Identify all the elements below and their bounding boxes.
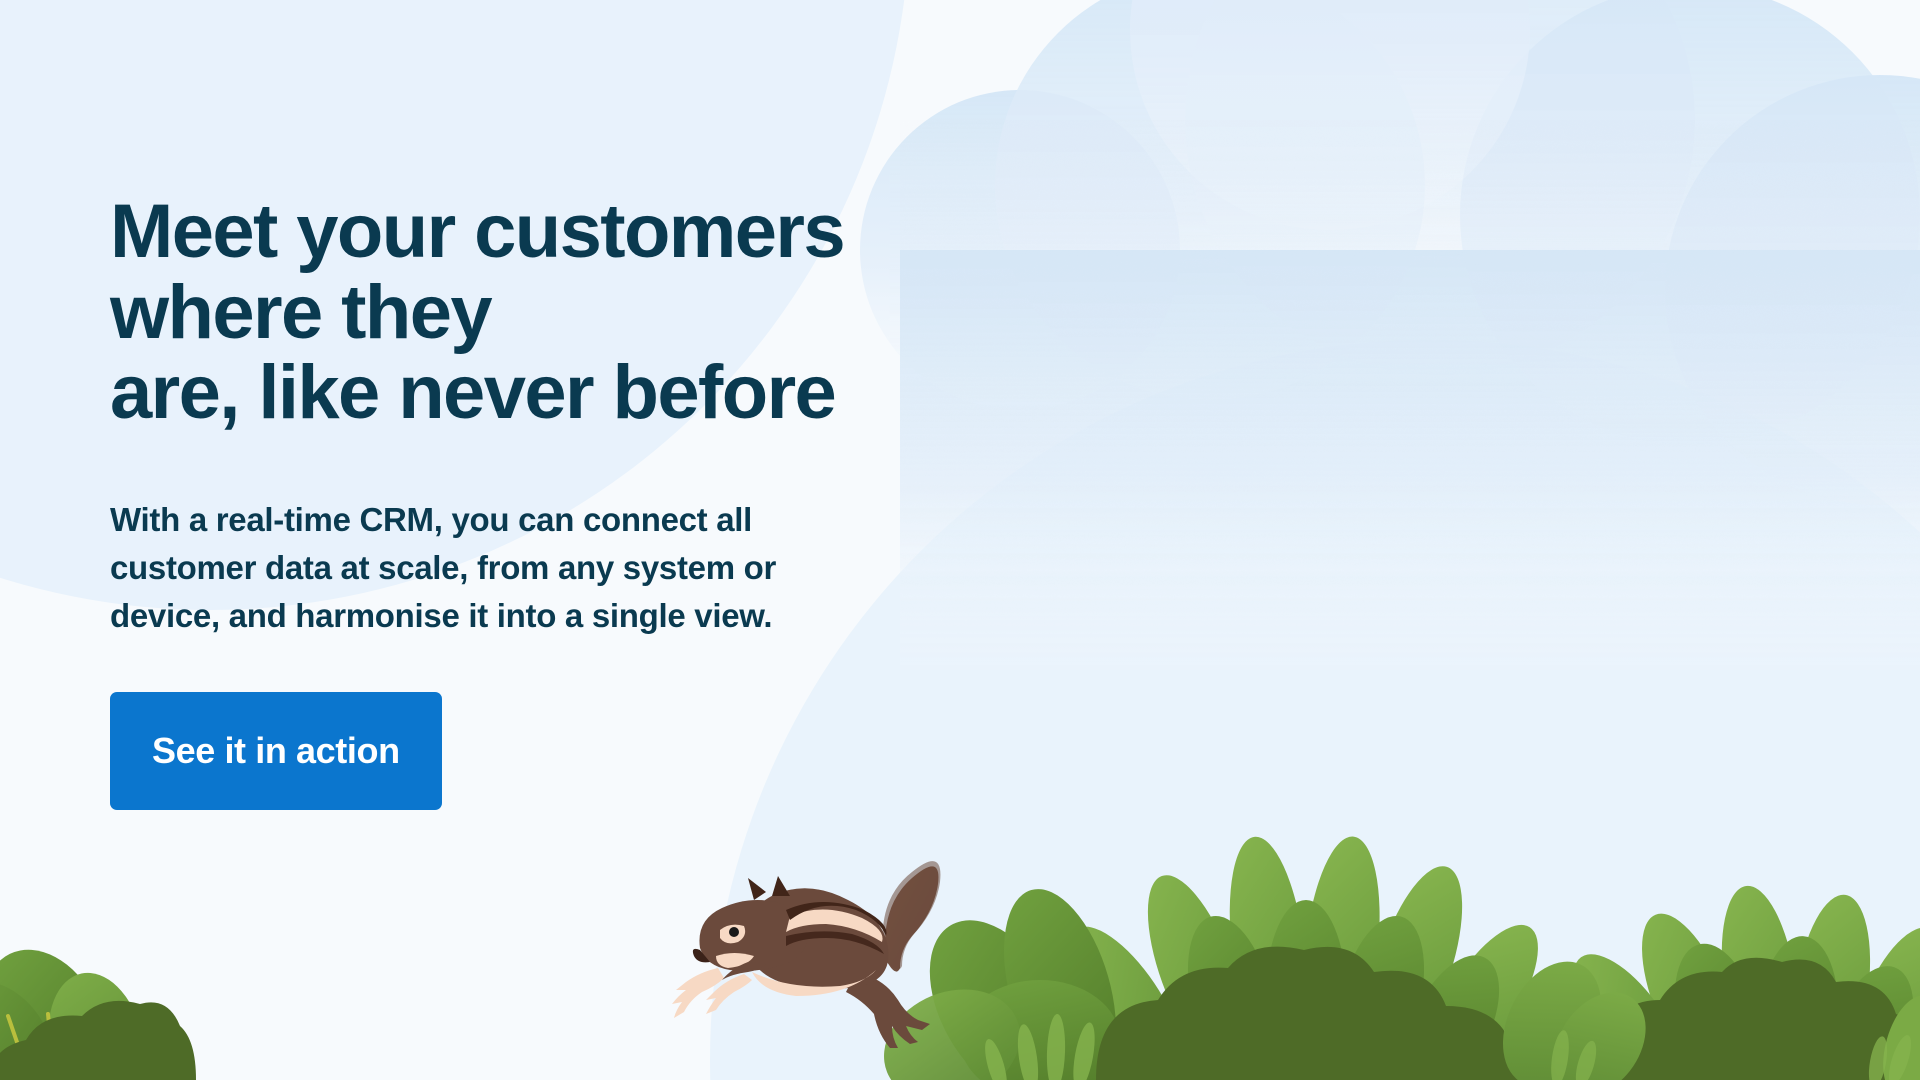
see-it-in-action-button[interactable]: See it in action (110, 692, 442, 810)
page-title: Meet your customers where they are, like… (110, 192, 1070, 434)
hero-content: Meet your customers where they are, like… (110, 192, 1110, 810)
hero-subhead: With a real-time CRM, you can connect al… (110, 496, 1010, 641)
hero-banner: Meet your customers where they are, like… (0, 0, 1920, 1080)
